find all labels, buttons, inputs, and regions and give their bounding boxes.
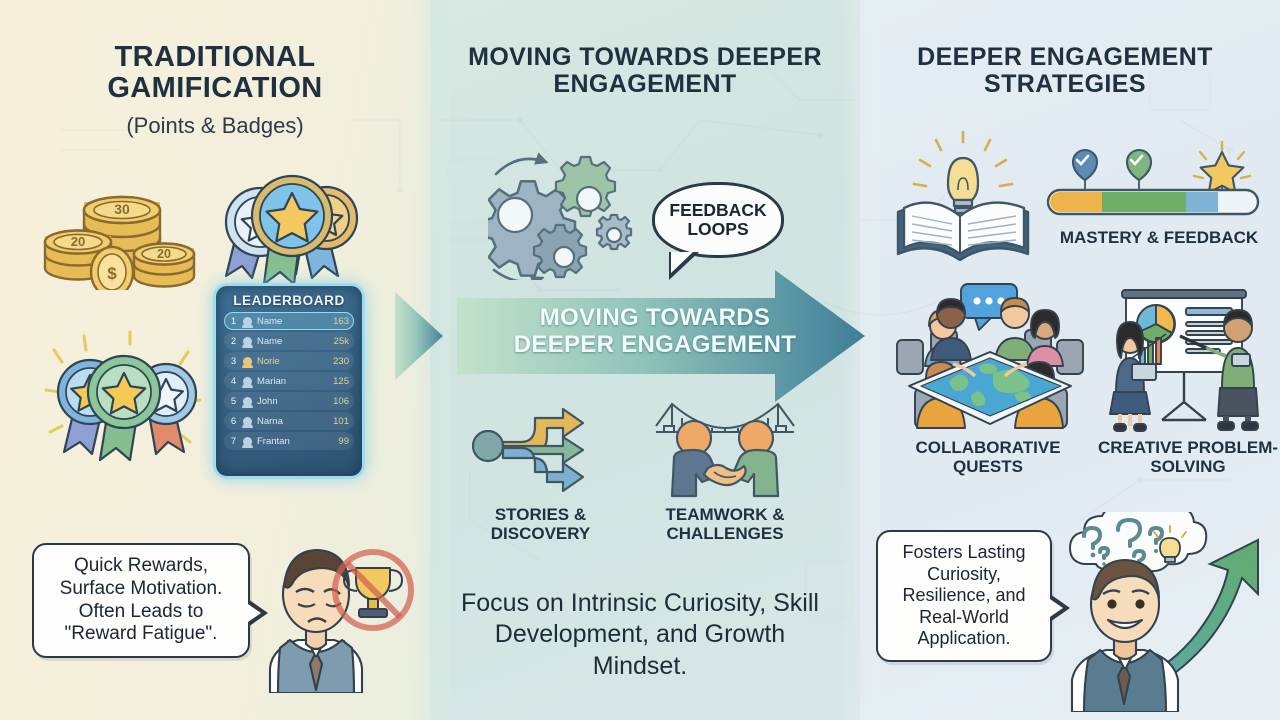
leaderboard-score: 106 bbox=[333, 396, 349, 407]
column-subtitle-left: (Points & Badges) bbox=[20, 113, 410, 139]
leaderboard-rank: 7 bbox=[229, 436, 238, 447]
leaderboard-score: 230 bbox=[333, 356, 349, 367]
coin-value-30: 30 bbox=[114, 201, 130, 217]
column-title-right: DEEPER ENGAGEMENT STRATEGIES bbox=[865, 44, 1265, 98]
badges-icon bbox=[208, 160, 368, 290]
leaderboard-row[interactable]: 3Norie230 bbox=[224, 352, 354, 370]
leaderboard-player-name: Name bbox=[257, 316, 328, 327]
leaderboard-player-name: John bbox=[257, 396, 328, 407]
bubble-left-text: Quick Rewards, Surface Motivation. Often… bbox=[60, 555, 223, 644]
leaderboard-rows: 1Name1632Name25k3Norie2304Marian1255John… bbox=[224, 312, 354, 450]
leaderboard-rank: 3 bbox=[229, 356, 238, 367]
coins-icon: 30 20 20 $ bbox=[38, 160, 198, 290]
leaderboard-player-name: Frantan bbox=[257, 436, 333, 447]
caption-stories-discovery: STORIES & DISCOVERY bbox=[468, 505, 613, 543]
badges-cluster-icon bbox=[40, 330, 215, 465]
leaderboard-row[interactable]: 6Narna101 bbox=[224, 412, 354, 430]
bubble-left-tail bbox=[248, 599, 268, 627]
leaderboard-rank: 4 bbox=[229, 376, 238, 387]
progress-bar-icon bbox=[1044, 138, 1274, 238]
infographic-canvas: TRADITIONAL GAMIFICATION (Points & Badge… bbox=[0, 0, 1280, 720]
middle-statement: Focus on Intrinsic Curiosity, Skill Deve… bbox=[460, 588, 820, 682]
book-lightbulb-icon bbox=[888, 128, 1038, 266]
presentation-chart-icon bbox=[1106, 282, 1274, 432]
caption-collaborative-quests: COLLABORATIVE QUESTS bbox=[888, 438, 1088, 476]
happy-student-icon bbox=[1062, 512, 1280, 712]
leaderboard-score: 125 bbox=[333, 376, 349, 387]
caption-mastery-feedback: MASTERY & FEEDBACK bbox=[1042, 228, 1276, 247]
handshake-bridge-icon bbox=[650, 388, 800, 500]
feedback-bubble-tail bbox=[669, 252, 699, 280]
avatar-icon bbox=[243, 397, 252, 406]
avatar-icon bbox=[243, 357, 252, 366]
avatar-icon bbox=[243, 437, 252, 446]
caption-creative-problem-solving: CREATIVE PROBLEM-SOLVING bbox=[1096, 438, 1280, 476]
leaderboard-row[interactable]: 2Name25k bbox=[224, 332, 354, 350]
feedback-loops-bubble: FEEDBACK LOOPS bbox=[652, 182, 784, 258]
leaderboard-row[interactable]: 1Name163 bbox=[224, 312, 354, 330]
coin-value-dollar: $ bbox=[107, 264, 117, 283]
leaderboard-title: LEADERBOARD bbox=[224, 293, 354, 308]
group-table-globe-icon bbox=[893, 278, 1088, 433]
bubble-right-text: Fosters Lasting Curiosity, Resilience, a… bbox=[902, 542, 1025, 648]
coin-value-20a: 20 bbox=[71, 234, 85, 249]
leaderboard-row[interactable]: 5John106 bbox=[224, 392, 354, 410]
leaderboard-score: 99 bbox=[338, 436, 349, 447]
column-title-left: TRADITIONAL GAMIFICATION bbox=[20, 42, 410, 105]
leaderboard-rank: 6 bbox=[229, 416, 238, 427]
leaderboard-player-name: Narna bbox=[257, 416, 328, 427]
leaderboard-rank: 1 bbox=[229, 316, 238, 327]
leaderboard-score: 163 bbox=[333, 316, 349, 327]
leaderboard-score: 101 bbox=[333, 416, 349, 427]
avatar-icon bbox=[243, 317, 252, 326]
arrow-banner-text: MOVING TOWARDS DEEPER ENGAGEMENT bbox=[490, 305, 820, 359]
feedback-loops-text: FEEDBACK LOOPS bbox=[655, 201, 781, 240]
leaderboard-player-name: Name bbox=[257, 336, 329, 347]
leaderboard-player-name: Norie bbox=[257, 356, 328, 367]
column-title-middle: MOVING TOWARDS DEEPER ENGAGEMENT bbox=[445, 44, 845, 98]
gears-icon bbox=[488, 148, 638, 280]
sad-student-icon bbox=[248, 528, 416, 693]
coin-value-20b: 20 bbox=[157, 247, 171, 261]
bubble-traditional-outcome: Quick Rewards, Surface Motivation. Often… bbox=[32, 543, 250, 658]
leaderboard-rank: 2 bbox=[229, 336, 238, 347]
leaderboard-row[interactable]: 4Marian125 bbox=[224, 372, 354, 390]
bubble-deeper-outcome: Fosters Lasting Curiosity, Resilience, a… bbox=[876, 530, 1052, 662]
avatar-icon bbox=[243, 337, 252, 346]
caption-teamwork-challenges: TEAMWORK & CHALLENGES bbox=[650, 505, 800, 543]
avatar-icon bbox=[243, 377, 252, 386]
branching-paths-icon bbox=[470, 392, 610, 500]
leaderboard-rank: 5 bbox=[229, 396, 238, 407]
leaderboard-score: 25k bbox=[334, 336, 349, 347]
leaderboard-row[interactable]: 7Frantan99 bbox=[224, 432, 354, 450]
leaderboard-player-name: Marian bbox=[257, 376, 328, 387]
leaderboard-panel[interactable]: LEADERBOARD 1Name1632Name25k3Norie2304Ma… bbox=[213, 283, 365, 479]
avatar-icon bbox=[243, 417, 252, 426]
